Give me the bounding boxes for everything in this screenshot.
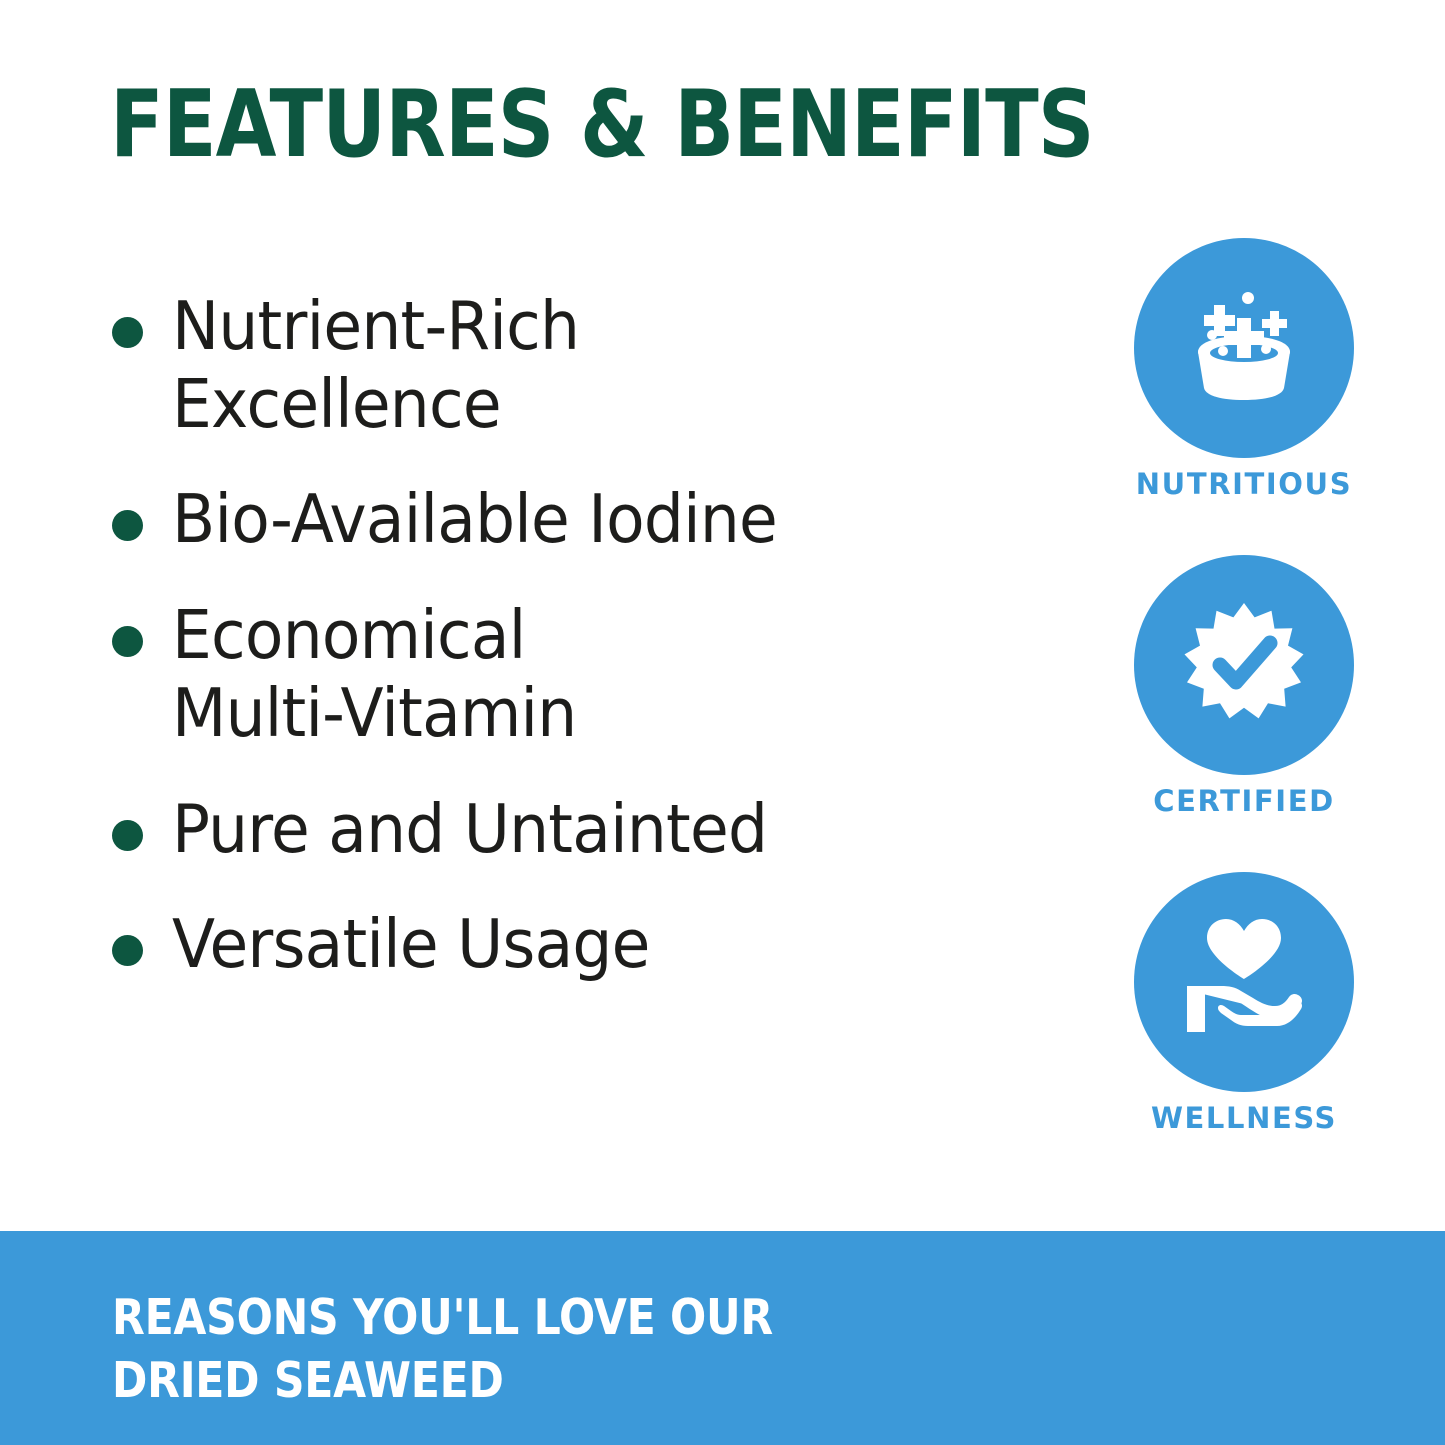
bullet-dot-icon (112, 510, 143, 541)
pet-food-bowl-sparkle-icon (1174, 278, 1314, 418)
bottom-banner: REASONS YOU'LL LOVE OUR DRIED SEAWEED (0, 1231, 1445, 1445)
page-title: FEATURES & BENEFITS (110, 78, 1094, 171)
badge-circle (1134, 555, 1354, 775)
list-item: Pure and Untainted (112, 791, 992, 869)
list-item: Bio-Available Iodine (112, 481, 992, 559)
list-item: Versatile Usage (112, 906, 992, 984)
list-item-label: Nutrient-Rich Excellence (172, 288, 579, 443)
hand-holding-heart-icon (1169, 907, 1319, 1057)
list-item-label: Pure and Untainted (172, 791, 767, 869)
infographic-canvas: FEATURES & BENEFITS Nutrient-Rich Excell… (0, 0, 1445, 1445)
list-item: Nutrient-Rich Excellence (112, 288, 992, 443)
features-benefits-list: Nutrient-Rich Excellence Bio-Available I… (112, 288, 992, 984)
badge-certified: CERTIFIED (1128, 555, 1360, 816)
banner-headline: REASONS YOU'LL LOVE OUR DRIED SEAWEED (112, 1287, 773, 1412)
list-item-label: Versatile Usage (172, 906, 650, 984)
bullet-dot-icon (112, 626, 143, 657)
bullet-dot-icon (112, 935, 143, 966)
badge-label: NUTRITIOUS (1128, 470, 1360, 499)
badge-label: CERTIFIED (1128, 787, 1360, 816)
bullet-dot-icon (112, 317, 143, 348)
list-item-label: Economical Multi-Vitamin (172, 597, 576, 752)
bullet-dot-icon (112, 820, 143, 851)
badge-nutritious: NUTRITIOUS (1128, 238, 1360, 499)
starburst-check-badge-icon (1174, 595, 1314, 735)
badge-column: NUTRITIOUS CERTIFIED (1128, 238, 1360, 1133)
list-item: Economical Multi-Vitamin (112, 597, 992, 752)
badge-circle (1134, 872, 1354, 1092)
list-item-label: Bio-Available Iodine (172, 481, 777, 559)
badge-wellness: WELLNESS (1128, 872, 1360, 1133)
badge-circle (1134, 238, 1354, 458)
badge-label: WELLNESS (1128, 1104, 1360, 1133)
